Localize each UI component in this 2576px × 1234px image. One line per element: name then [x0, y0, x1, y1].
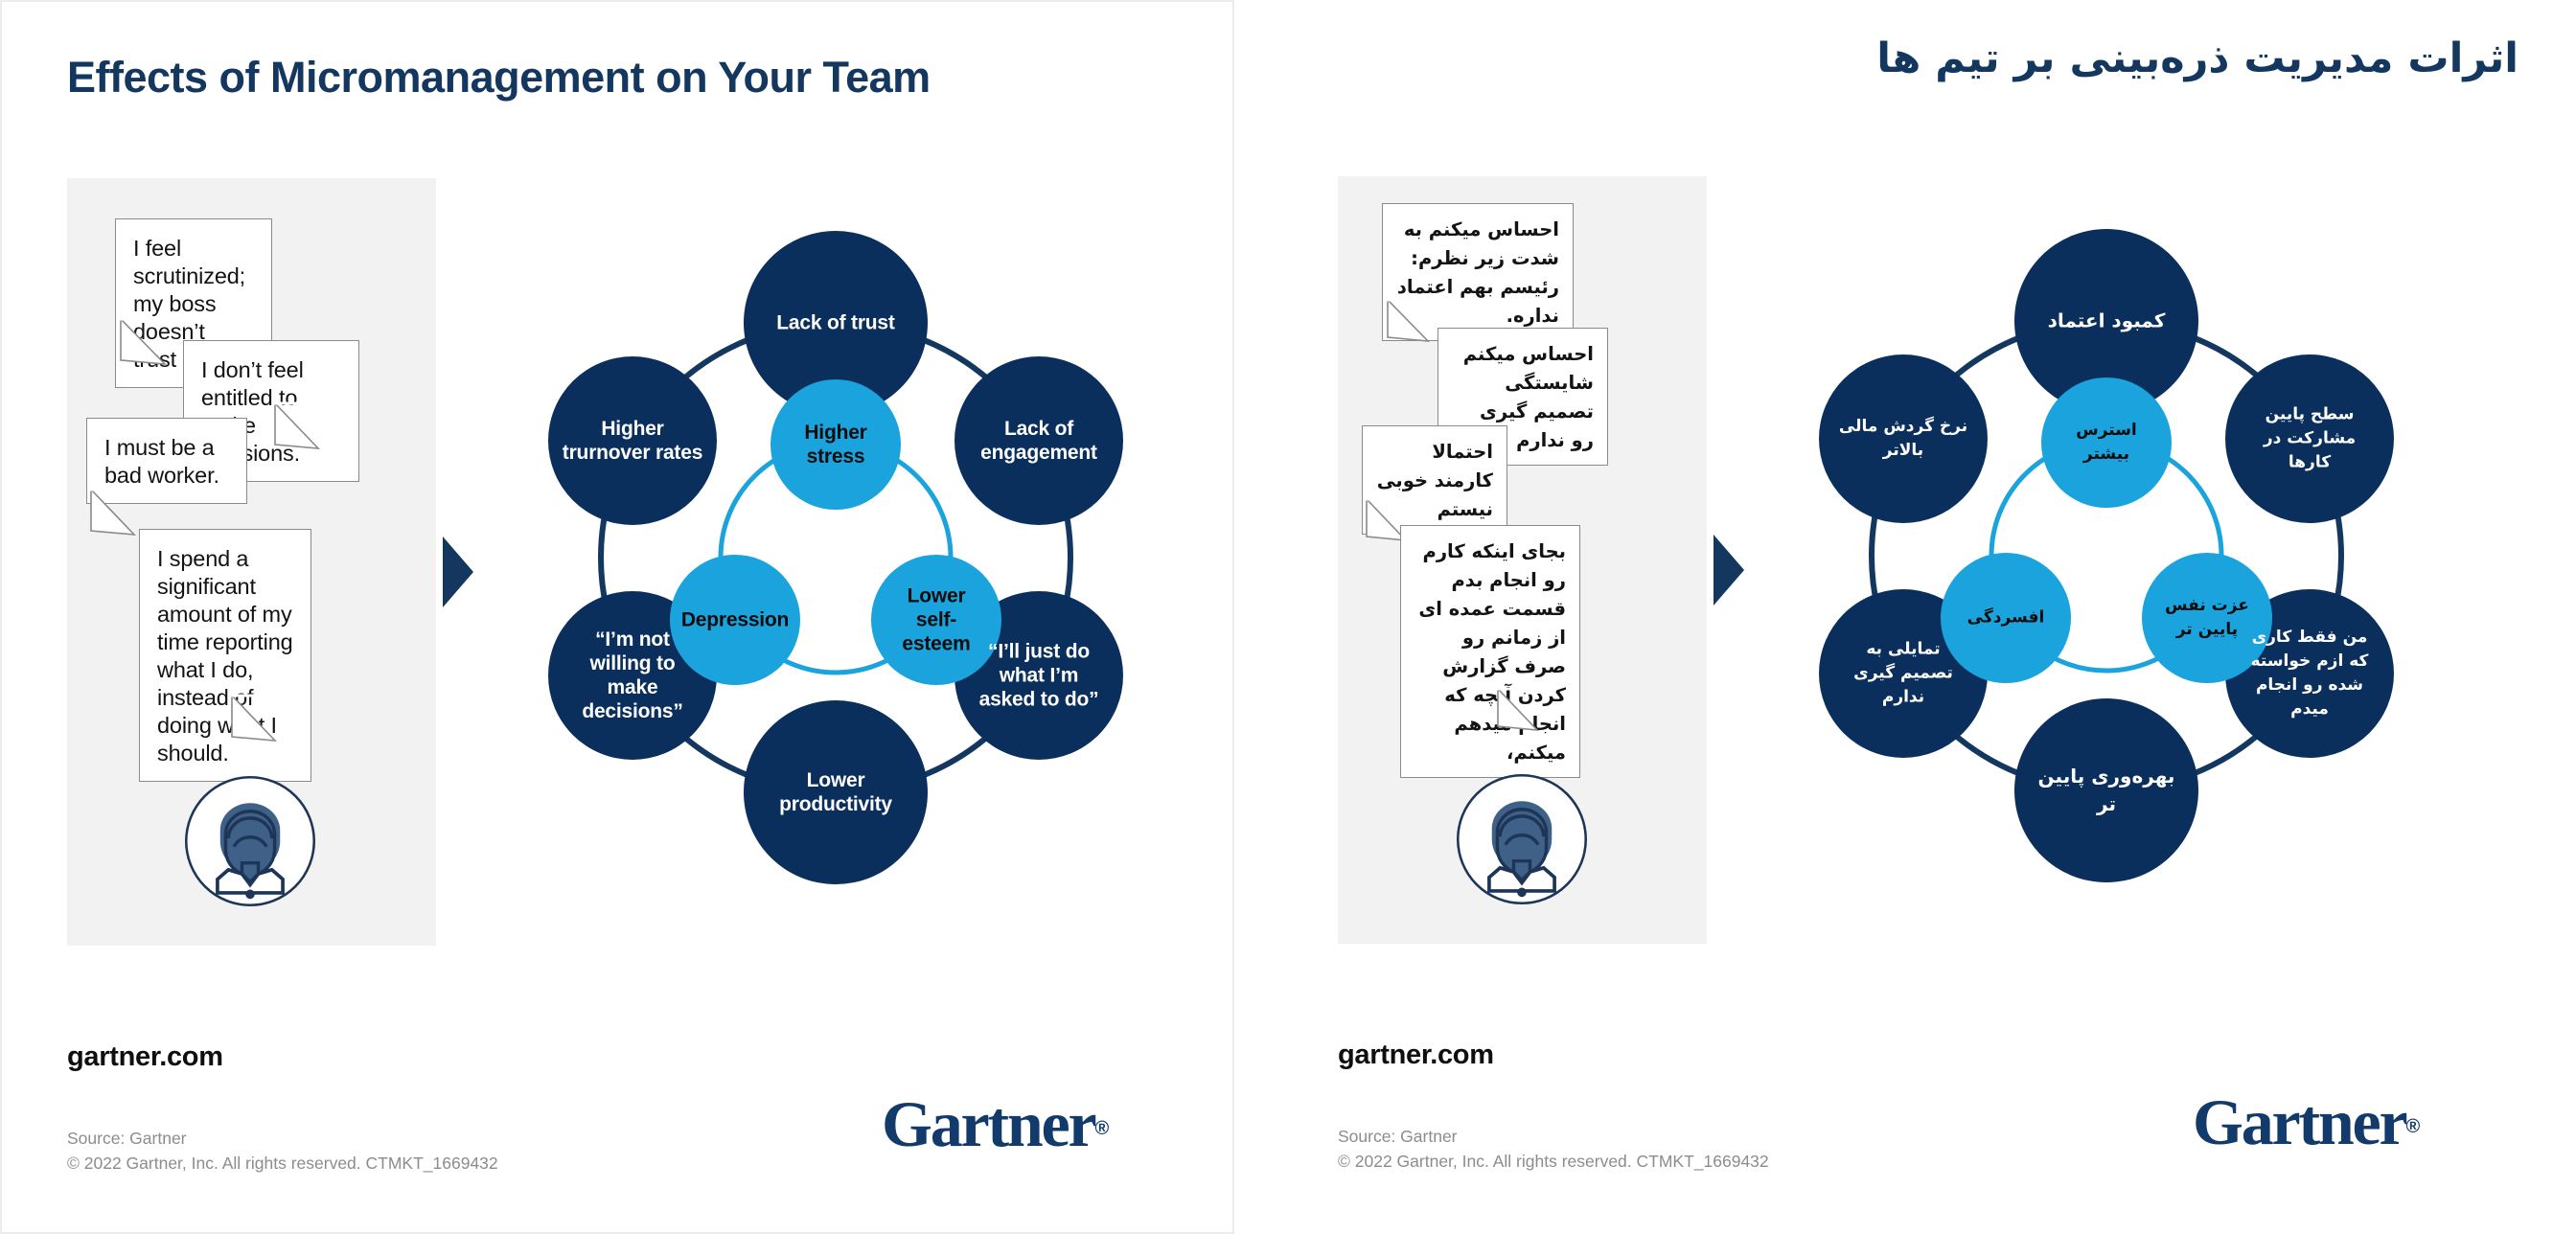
node-outer-6 [1819, 354, 1988, 523]
footer-copyright-english: © 2022 Gartner, Inc. All rights reserved… [67, 1151, 498, 1176]
speech-bubble-1-tail-english [115, 318, 182, 376]
node-inner-3 [670, 555, 800, 685]
gartner-logo-wordmark-persian: Gartner [2193, 1085, 2406, 1158]
cycle-diagram-persian: کمبود اعتماد سطح پایین مشارکت در کارها م… [1733, 182, 2471, 939]
node-outer-4 [744, 700, 928, 884]
node-inner-2 [2142, 553, 2272, 683]
speech-bubble-2-tail-english [270, 402, 337, 460]
node-outer-4 [2014, 698, 2198, 882]
footer-source-english: Source: Gartner [67, 1126, 187, 1151]
infographic-stage: Effects of Micromanagement on Your Team … [0, 0, 2576, 1234]
page-title-persian: اثرات مدیریت ذره‌بینی بر تیم ها [1876, 34, 2518, 82]
user-avatar-icon-persian [1454, 771, 1590, 907]
page-title-english: Effects of Micromanagement on Your Team [67, 53, 931, 103]
panel-persian: اثرات مدیریت ذره‌بینی بر تیم ها احساس می… [1234, 0, 2576, 1234]
panel-english: Effects of Micromanagement on Your Team … [0, 0, 1234, 1234]
footer-url-persian[interactable]: gartner.com [1338, 1040, 1494, 1071]
footer-copyright-persian: © 2022 Gartner, Inc. All rights reserved… [1338, 1149, 1769, 1174]
node-inner-1 [2041, 377, 2172, 508]
speech-bubble-4-tail-english [227, 695, 294, 752]
registered-trademark-icon-english: ® [1095, 1118, 1110, 1139]
node-outer-2 [954, 356, 1123, 525]
gartner-logo-persian: Gartner® [2193, 1085, 2420, 1160]
node-inner-2 [871, 555, 1001, 685]
node-inner-3 [1941, 553, 2071, 683]
footer-url-english[interactable]: gartner.com [67, 1041, 223, 1073]
footer-source-persian: Source: Gartner [1338, 1124, 1458, 1149]
user-avatar-icon-english [182, 773, 318, 909]
gartner-logo-english: Gartner® [882, 1086, 1109, 1162]
node-inner-1 [770, 379, 901, 510]
speech-bubble-4-tail-persian [1493, 688, 1560, 745]
registered-trademark-icon-persian: ® [2406, 1116, 2421, 1137]
node-outer-6 [548, 356, 717, 525]
node-outer-2 [2225, 354, 2394, 523]
gartner-logo-wordmark-english: Gartner [882, 1087, 1095, 1160]
cycle-diagram-english: Lack of trust Lack of engagement “I’ll j… [462, 184, 1200, 941]
